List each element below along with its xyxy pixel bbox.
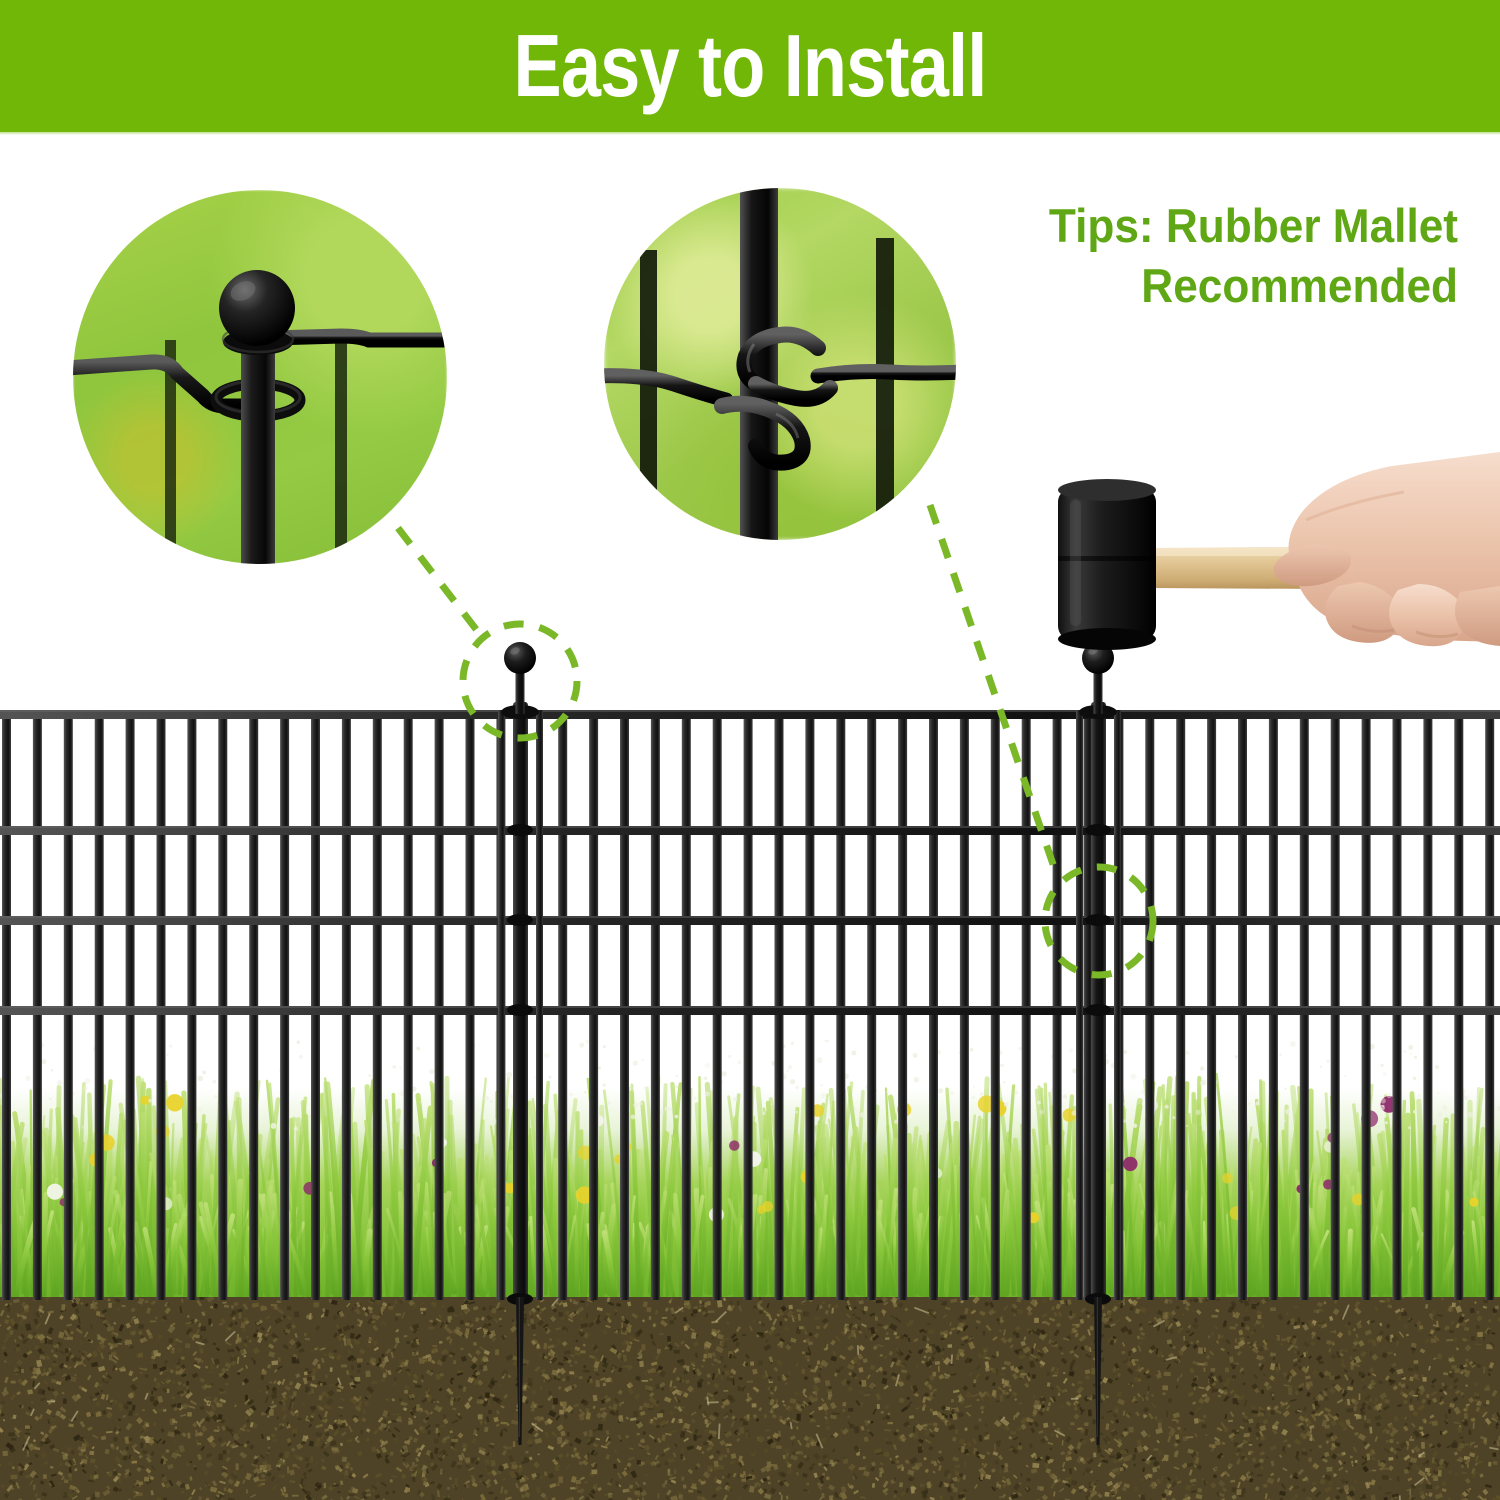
hand-grip [1273,452,1500,646]
header-banner: Easy to Install [0,0,1500,132]
rubber-mallet-and-hand [0,0,1500,1500]
page-title: Easy to Install [135,0,1365,132]
banner-shadow [0,132,1500,135]
infographic-canvas: Tips: Rubber Mallet Recommended [0,0,1500,1500]
mallet-head [1058,479,1156,650]
